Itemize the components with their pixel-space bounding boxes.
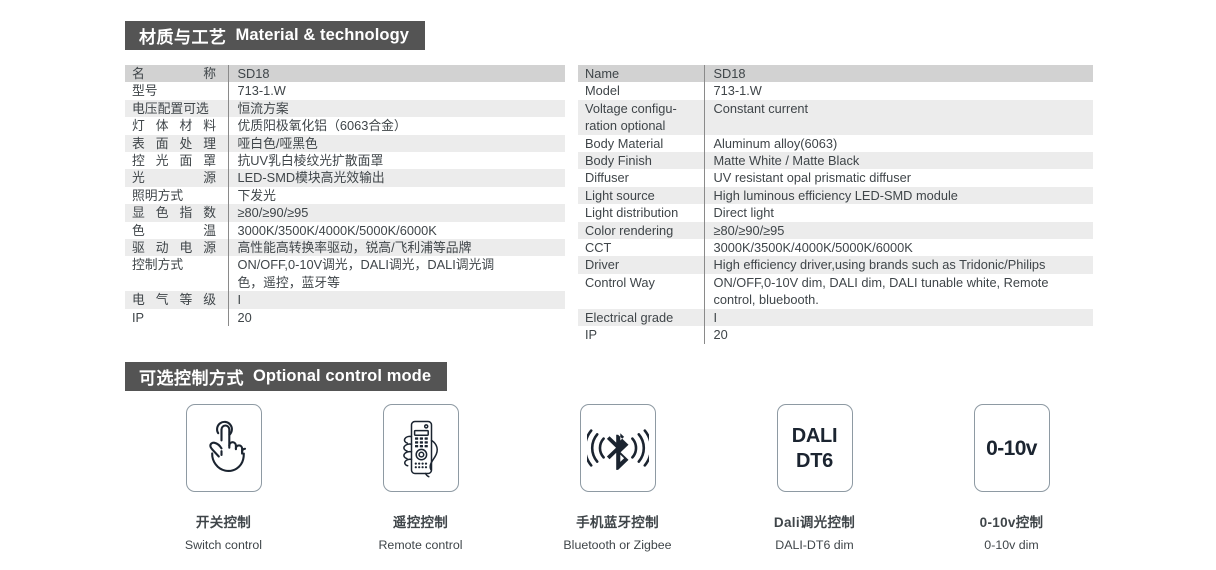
spec-value-cell: Aluminum alloy(6063) (704, 135, 1093, 152)
spec-value-cell: 哑白色/哑黑色 (228, 135, 565, 152)
dali-dt6-icon: DALIDT6 (792, 426, 837, 471)
spec-key-cell: 显色指数 (125, 204, 228, 221)
table-row: 控制方式ON/OFF,0-10V调光，DALI调光，DALI调光调色，遥控，蓝牙… (125, 256, 565, 291)
spec-value-text: High efficiency driver,using brands such… (714, 257, 1046, 272)
spec-value-text: I (714, 310, 718, 325)
section-header-control-mode-cn: 可选控制方式 (139, 364, 244, 389)
spec-value-text: 713-1.W (238, 83, 286, 98)
control-mode-label-en: Remote control (378, 538, 462, 552)
spec-value-text: Matte White / Matte Black (714, 153, 860, 168)
spec-value-text: UV resistant opal prismatic diffuser (714, 170, 911, 185)
table-row: 表面处理哑白色/哑黑色 (125, 135, 565, 152)
table-row: 色温3000K/3500K/4000K/5000K/6000K (125, 222, 565, 239)
spec-table-chinese: 名称SD18型号713-1.W电压配置可选恒流方案灯体材料优质阳极氧化铝（606… (125, 65, 565, 326)
spec-value-text: 20 (714, 327, 728, 342)
spec-key-cell: Body Material (578, 135, 704, 152)
spec-value-text: SD18 (714, 66, 746, 81)
hand-tap-icon-box[interactable] (186, 404, 262, 492)
spec-value-cell: 优质阳极氧化铝（6063合金） (228, 117, 565, 134)
table-row: 照明方式下发光 (125, 187, 565, 204)
hand-tap-icon (200, 420, 248, 476)
control-mode-label-cn: 0-10v控制 (980, 511, 1044, 531)
table-row: 控光面罩抗UV乳白棱纹光扩散面罩 (125, 152, 565, 169)
control-mode-item[interactable]: 遥控控制Remote control (322, 404, 519, 552)
section-header-control-mode: 可选控制方式 Optional control mode (125, 362, 447, 391)
spec-key-label: 名称 (132, 65, 216, 82)
table-row: IP20 (125, 309, 565, 326)
table-row: Control WayON/OFF,0-10V dim, DALI dim, D… (578, 274, 1093, 309)
spec-value-text: 713-1.W (714, 83, 762, 98)
spec-value-text: 3000K/3500K/4000K/5000K/6000K (238, 223, 437, 238)
spec-key-label: Name (585, 66, 619, 81)
spec-value-cell: High efficiency driver,using brands such… (704, 256, 1093, 273)
spec-value-text: Constant current (714, 101, 809, 116)
section-header-material: 材质与工艺 Material & technology (125, 21, 425, 50)
table-row: Light distributionDirect light (578, 204, 1093, 221)
control-mode-label-en: Bluetooth or Zigbee (563, 538, 671, 552)
control-mode-item[interactable]: 开关控制Switch control (125, 404, 322, 552)
control-mode-label-en: DALI-DT6 dim (775, 538, 854, 552)
spec-key-cell: Light source (578, 187, 704, 204)
zero-to-ten-volt-icon-box[interactable]: 0-10v (974, 404, 1050, 492)
spec-key-label: 驱动电源 (132, 239, 216, 256)
spec-key-cell: Driver (578, 256, 704, 273)
spec-value-text: 3000K/3500K/4000K/5000K/6000K (714, 240, 913, 255)
spec-key-cell: 表面处理 (125, 135, 228, 152)
spec-key-cell: 光源 (125, 169, 228, 186)
section-header-material-en: Material & technology (236, 26, 410, 45)
spec-key-label: Control Way (585, 275, 655, 290)
spec-key-cell: Body Finish (578, 152, 704, 169)
spec-key-cell: 型号 (125, 82, 228, 99)
spec-value-text: 哑白色/哑黑色 (238, 136, 318, 151)
spec-key-label: 电气等级 (132, 291, 216, 308)
control-mode-label-en: Switch control (185, 538, 262, 552)
spec-value-cell: SD18 (704, 65, 1093, 82)
spec-value-text: 高性能高转换率驱动，锐高/飞利浦等品牌 (238, 240, 472, 255)
spec-key-cell: 灯体材料 (125, 117, 228, 134)
spec-value-text-line2: control, bluebooth. (714, 291, 1088, 308)
spec-value-cell: ON/OFF,0-10V调光，DALI调光，DALI调光调色，遥控，蓝牙等 (228, 256, 565, 291)
spec-key-label: Color rendering (585, 223, 673, 238)
spec-value-text: 恒流方案 (238, 101, 289, 116)
table-row: Electrical gradeI (578, 309, 1093, 326)
spec-key-cell: 电气等级 (125, 291, 228, 308)
spec-key-cell: 控光面罩 (125, 152, 228, 169)
spec-key-cell: CCT (578, 239, 704, 256)
spec-value-text: 抗UV乳白棱纹光扩散面罩 (238, 153, 384, 168)
spec-value-cell: 高性能高转换率驱动，锐高/飞利浦等品牌 (228, 239, 565, 256)
spec-key-label: 电压配置可选 (132, 100, 224, 117)
spec-key-label: IP (585, 327, 597, 342)
spec-key-cell: Light distribution (578, 204, 704, 221)
table-row: Model713-1.W (578, 82, 1093, 99)
spec-key-cell: 驱动电源 (125, 239, 228, 256)
spec-key-label: Body Material (585, 136, 663, 151)
spec-key-cell: Name (578, 65, 704, 82)
table-row: 型号713-1.W (125, 82, 565, 99)
spec-key-cell: Diffuser (578, 169, 704, 186)
spec-value-text: SD18 (238, 66, 270, 81)
table-row: 显色指数≥80/≥90/≥95 (125, 204, 565, 221)
table-row: DiffuserUV resistant opal prismatic diff… (578, 169, 1093, 186)
spec-table-english: NameSD18Model713-1.WVoltage configu-rati… (578, 65, 1093, 344)
table-row: 驱动电源高性能高转换率驱动，锐高/飞利浦等品牌 (125, 239, 565, 256)
spec-key-label: Driver (585, 257, 619, 272)
control-mode-item[interactable]: 0-10v0-10v控制0-10v dim (913, 404, 1110, 552)
spec-key-label: 光源 (132, 169, 216, 186)
spec-key-cell: Color rendering (578, 222, 704, 239)
spec-value-cell: 下发光 (228, 187, 565, 204)
spec-value-text: Aluminum alloy(6063) (714, 136, 838, 151)
dali-dt6-icon-box[interactable]: DALIDT6 (777, 404, 853, 492)
spec-value-text: High luminous efficiency LED-SMD module (714, 188, 958, 203)
table-row: Light sourceHigh luminous efficiency LED… (578, 187, 1093, 204)
dali-dt6-icon-line1: DALI (792, 426, 837, 446)
spec-value-cell: ON/OFF,0-10V dim, DALI dim, DALI tunable… (704, 274, 1093, 309)
spec-key-cell: 控制方式 (125, 256, 228, 291)
spec-value-text: ON/OFF,0-10V调光，DALI调光，DALI调光调 (238, 257, 495, 272)
table-row: IP20 (578, 326, 1093, 343)
spec-value-cell: 3000K/3500K/4000K/5000K/6000K (704, 239, 1093, 256)
spec-value-cell: 恒流方案 (228, 100, 565, 117)
bluetooth-wireless-icon-box[interactable] (580, 404, 656, 492)
spec-key-cell: IP (578, 326, 704, 343)
spec-value-cell: UV resistant opal prismatic diffuser (704, 169, 1093, 186)
spec-value-text-line2: 色，遥控，蓝牙等 (238, 274, 560, 291)
spec-key-label: 灯体材料 (132, 117, 216, 134)
control-mode-label-cn: 手机蓝牙控制 (576, 511, 659, 531)
spec-value-cell: I (704, 309, 1093, 326)
control-mode-item[interactable]: 手机蓝牙控制Bluetooth or Zigbee (519, 404, 716, 552)
spec-key-label: Body Finish (585, 153, 652, 168)
spec-key-label: Light distribution (585, 205, 678, 220)
spec-key-label: 显色指数 (132, 204, 216, 221)
table-row: Body FinishMatte White / Matte Black (578, 152, 1093, 169)
spec-key-cell: 电压配置可选 (125, 100, 228, 117)
table-row: 电气等级I (125, 291, 565, 308)
spec-key-label: Light source (585, 188, 655, 203)
spec-key-cell: Control Way (578, 274, 704, 309)
table-row: Body MaterialAluminum alloy(6063) (578, 135, 1093, 152)
spec-key-label: 控制方式 (132, 256, 224, 273)
spec-key-label: Electrical grade (585, 310, 673, 325)
table-row: NameSD18 (578, 65, 1093, 82)
spec-key-cell: 名称 (125, 65, 228, 82)
spec-key-label: Model (585, 83, 620, 98)
spec-value-cell: SD18 (228, 65, 565, 82)
spec-value-text: LED-SMD模块高光效输出 (238, 170, 385, 185)
spec-key-label: CCT (585, 240, 611, 255)
spec-key-label: 型号 (132, 82, 224, 99)
spec-value-text: ON/OFF,0-10V dim, DALI dim, DALI tunable… (714, 275, 1049, 290)
spec-value-cell: ≥80/≥90/≥95 (228, 204, 565, 221)
spec-key-label-line2: ration optional (585, 117, 700, 134)
spec-value-text: 下发光 (238, 188, 276, 203)
spec-key-cell: 照明方式 (125, 187, 228, 204)
spec-key-label: 控光面罩 (132, 152, 216, 169)
spec-value-cell: I (228, 291, 565, 308)
table-row: DriverHigh efficiency driver,using brand… (578, 256, 1093, 273)
bluetooth-wireless-icon (587, 422, 649, 474)
spec-key-label: Voltage configu- (585, 101, 677, 116)
spec-key-cell: 色温 (125, 222, 228, 239)
zero-to-ten-volt-icon-line1: 0-10v (986, 438, 1037, 459)
table-row: 电压配置可选恒流方案 (125, 100, 565, 117)
spec-key-label: Diffuser (585, 170, 629, 185)
section-header-material-cn: 材质与工艺 (139, 23, 227, 48)
control-mode-list: 开关控制Switch control 遥控控制Remote co (125, 404, 1110, 552)
spec-table-english-body: NameSD18Model713-1.WVoltage configu-rati… (578, 65, 1093, 344)
spec-value-cell: 20 (228, 309, 565, 326)
table-row: Voltage configu-ration optionalConstant … (578, 100, 1093, 135)
spec-value-cell: 713-1.W (704, 82, 1093, 99)
spec-value-cell: 713-1.W (228, 82, 565, 99)
spec-key-cell: Voltage configu-ration optional (578, 100, 704, 135)
table-row: CCT3000K/3500K/4000K/5000K/6000K (578, 239, 1093, 256)
spec-value-cell: Constant current (704, 100, 1093, 135)
control-mode-label-en: 0-10v dim (984, 538, 1038, 552)
spec-value-text: ≥80/≥90/≥95 (714, 223, 785, 238)
spec-value-text: Direct light (714, 205, 774, 220)
spec-value-cell: 20 (704, 326, 1093, 343)
spec-value-cell: Direct light (704, 204, 1093, 221)
zero-to-ten-volt-icon: 0-10v (986, 438, 1037, 459)
spec-key-cell: Model (578, 82, 704, 99)
table-row: Color rendering≥80/≥90/≥95 (578, 222, 1093, 239)
section-header-control-mode-en: Optional control mode (253, 367, 431, 386)
table-row: 名称SD18 (125, 65, 565, 82)
control-mode-label-cn: Dali调光控制 (774, 511, 855, 531)
table-row: 光源LED-SMD模块高光效输出 (125, 169, 565, 186)
spec-value-cell: LED-SMD模块高光效输出 (228, 169, 565, 186)
control-mode-label-cn: 遥控控制 (393, 511, 448, 531)
spec-key-label: 色温 (132, 222, 216, 239)
control-mode-item[interactable]: DALIDT6Dali调光控制DALI-DT6 dim (716, 404, 913, 552)
spec-key-label: 照明方式 (132, 187, 224, 204)
dali-dt6-icon-line2: DT6 (796, 451, 833, 471)
spec-value-cell: 3000K/3500K/4000K/5000K/6000K (228, 222, 565, 239)
remote-control-icon-box[interactable] (383, 404, 459, 492)
spec-key-cell: Electrical grade (578, 309, 704, 326)
spec-key-label: IP (132, 309, 224, 326)
spec-value-cell: 抗UV乳白棱纹光扩散面罩 (228, 152, 565, 169)
spec-key-label: 表面处理 (132, 135, 216, 152)
spec-value-cell: ≥80/≥90/≥95 (704, 222, 1093, 239)
table-row: 灯体材料优质阳极氧化铝（6063合金） (125, 117, 565, 134)
spec-key-cell: IP (125, 309, 228, 326)
control-mode-label-cn: 开关控制 (196, 511, 251, 531)
spec-value-text: ≥80/≥90/≥95 (238, 205, 309, 220)
spec-value-cell: Matte White / Matte Black (704, 152, 1093, 169)
spec-value-cell: High luminous efficiency LED-SMD module (704, 187, 1093, 204)
spec-value-text: I (238, 292, 242, 307)
remote-control-icon (394, 418, 448, 478)
spec-value-text: 20 (238, 310, 252, 325)
spec-value-text: 优质阳极氧化铝（6063合金） (238, 118, 407, 133)
spec-table-chinese-body: 名称SD18型号713-1.W电压配置可选恒流方案灯体材料优质阳极氧化铝（606… (125, 65, 565, 326)
